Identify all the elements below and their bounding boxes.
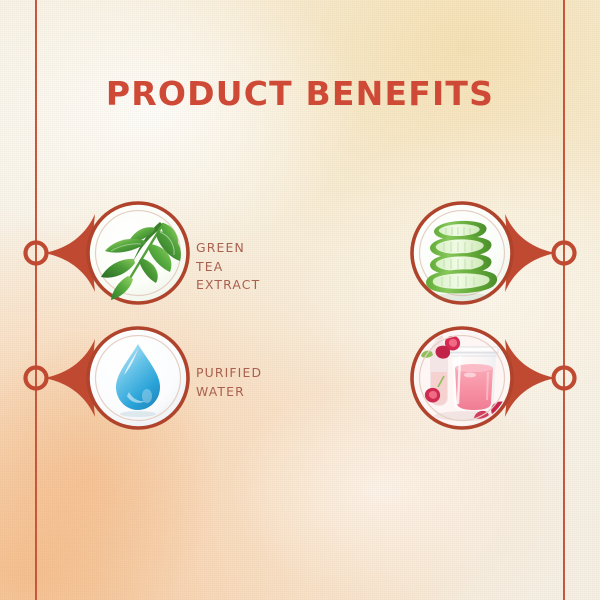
rose-water-node-graphic — [0, 0, 600, 600]
rail-ring-node — [554, 368, 575, 389]
infographic-canvas: PRODUCT BENEFITS — [0, 0, 600, 600]
